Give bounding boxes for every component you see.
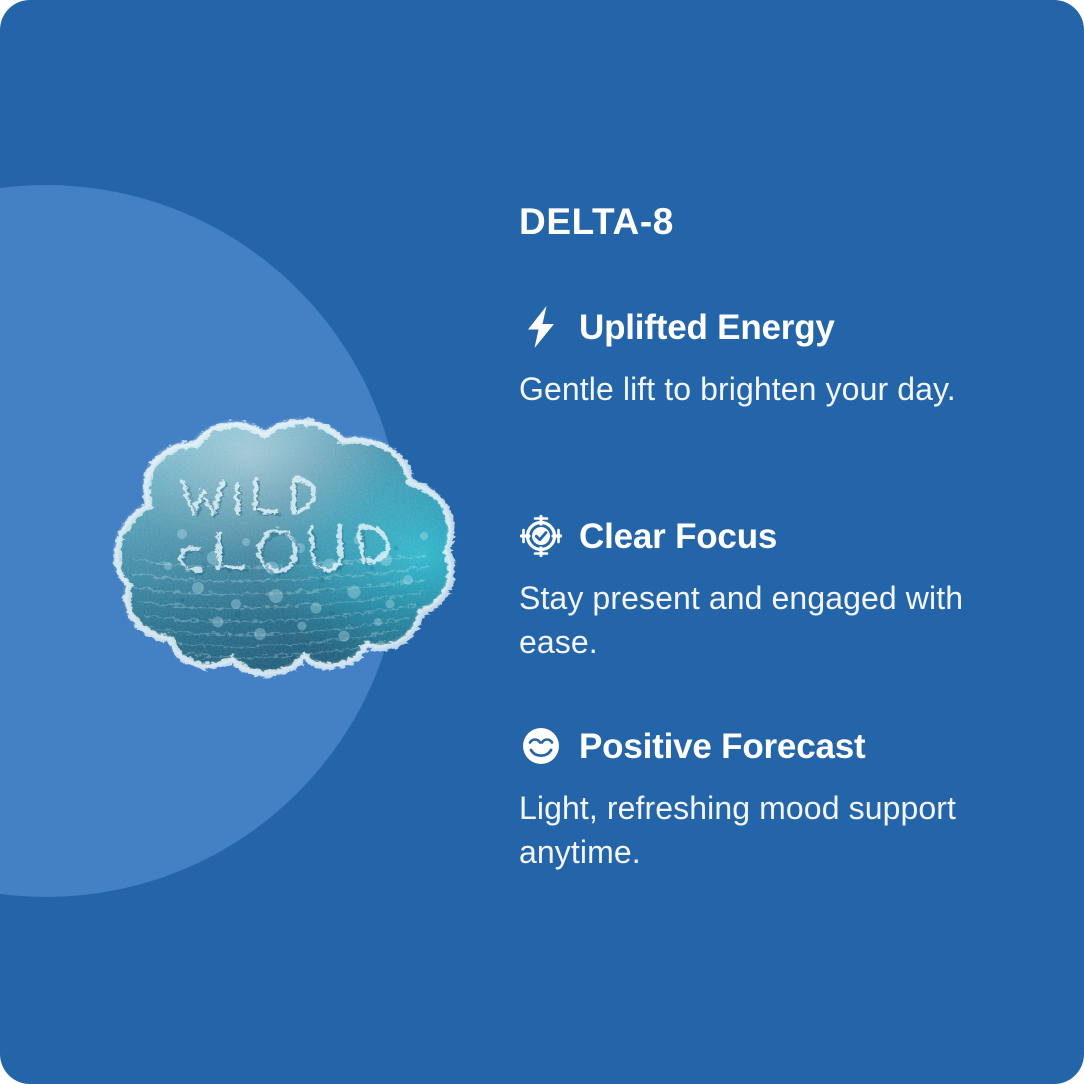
feature-description: Stay present and engaged with ease. [519, 577, 1009, 664]
feature-uplifted-energy: Uplifted Energy Gentle lift to brighten … [519, 300, 1019, 412]
feature-description: Gentle lift to brighten your day. [519, 368, 1009, 412]
product-benefits-card: DELTA-8 Uplifted Energy Gentle lift to b… [0, 0, 1084, 1084]
feature-header: Positive Forecast [519, 719, 1019, 773]
feature-header: Clear Focus [519, 509, 1019, 563]
relieved-face-icon [519, 724, 563, 768]
feature-title: Uplifted Energy [579, 310, 835, 345]
target-check-icon [519, 514, 563, 558]
gummy-product-image [86, 408, 476, 693]
benefits-content: DELTA-8 Uplifted Energy Gentle lift to b… [519, 0, 1039, 1084]
feature-clear-focus: Clear Focus Stay present and engaged wit… [519, 509, 1019, 664]
lightning-bolt-icon [519, 305, 563, 349]
feature-title: Positive Forecast [579, 729, 865, 764]
feature-positive-forecast: Positive Forecast Light, refreshing mood… [519, 719, 1019, 874]
page-title: DELTA-8 [519, 203, 674, 240]
product-image-area [0, 0, 500, 1084]
feature-description: Light, refreshing mood support anytime. [519, 787, 1009, 874]
feature-title: Clear Focus [579, 519, 777, 554]
feature-header: Uplifted Energy [519, 300, 1019, 354]
